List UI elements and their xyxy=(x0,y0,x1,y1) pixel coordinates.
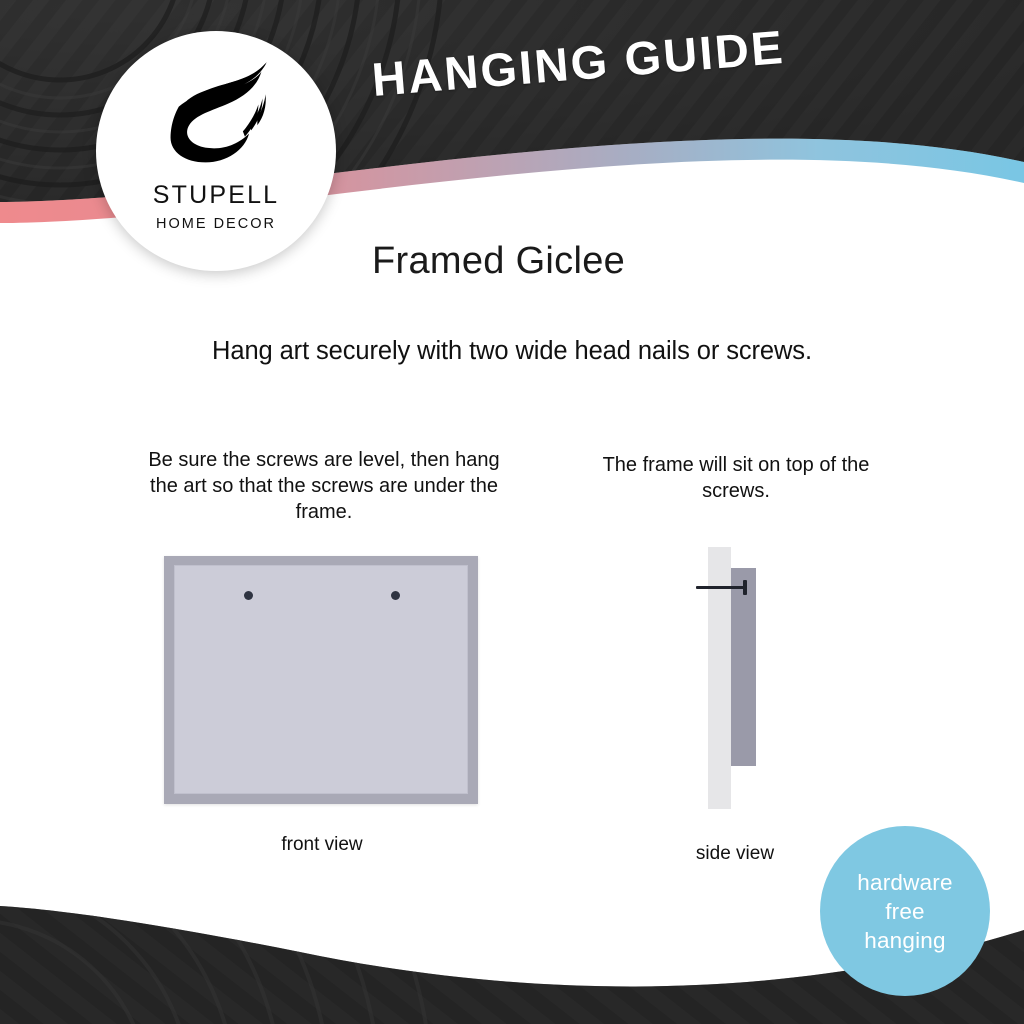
front-view-mat xyxy=(174,565,468,794)
nail-icon xyxy=(696,586,746,589)
front-view-caption: Be sure the screws are level, then hang … xyxy=(146,447,502,525)
badge-line-3: hanging xyxy=(864,926,945,955)
front-view-label: front view xyxy=(164,834,480,856)
side-view-caption: The frame will sit on top of the screws. xyxy=(590,452,882,504)
brand-logo-badge: STUPELL HOME DECOR xyxy=(96,31,336,271)
side-view-frame xyxy=(731,568,756,766)
nail-head-icon xyxy=(743,580,747,595)
page-title: HANGING GUIDE xyxy=(370,10,893,107)
screw-dot-right xyxy=(391,591,400,600)
stupell-swoosh-logo-icon xyxy=(154,57,278,181)
product-subtitle: Framed Giclee xyxy=(372,240,625,283)
hanging-guide-page: STUPELL HOME DECOR HANGING GUIDE Framed … xyxy=(0,0,1024,1024)
side-view-label: side view xyxy=(642,843,828,865)
front-view-frame-diagram xyxy=(164,556,478,804)
screw-dot-left xyxy=(244,591,253,600)
hardware-free-hanging-badge: hardware free hanging xyxy=(820,826,990,996)
badge-line-2: free xyxy=(885,897,925,926)
badge-line-1: hardware xyxy=(857,868,952,897)
main-instruction-text: Hang art securely with two wide head nai… xyxy=(0,337,1024,366)
brand-name: STUPELL xyxy=(153,183,280,208)
side-view-diagram xyxy=(708,547,774,809)
brand-tagline: HOME DECOR xyxy=(156,217,276,232)
